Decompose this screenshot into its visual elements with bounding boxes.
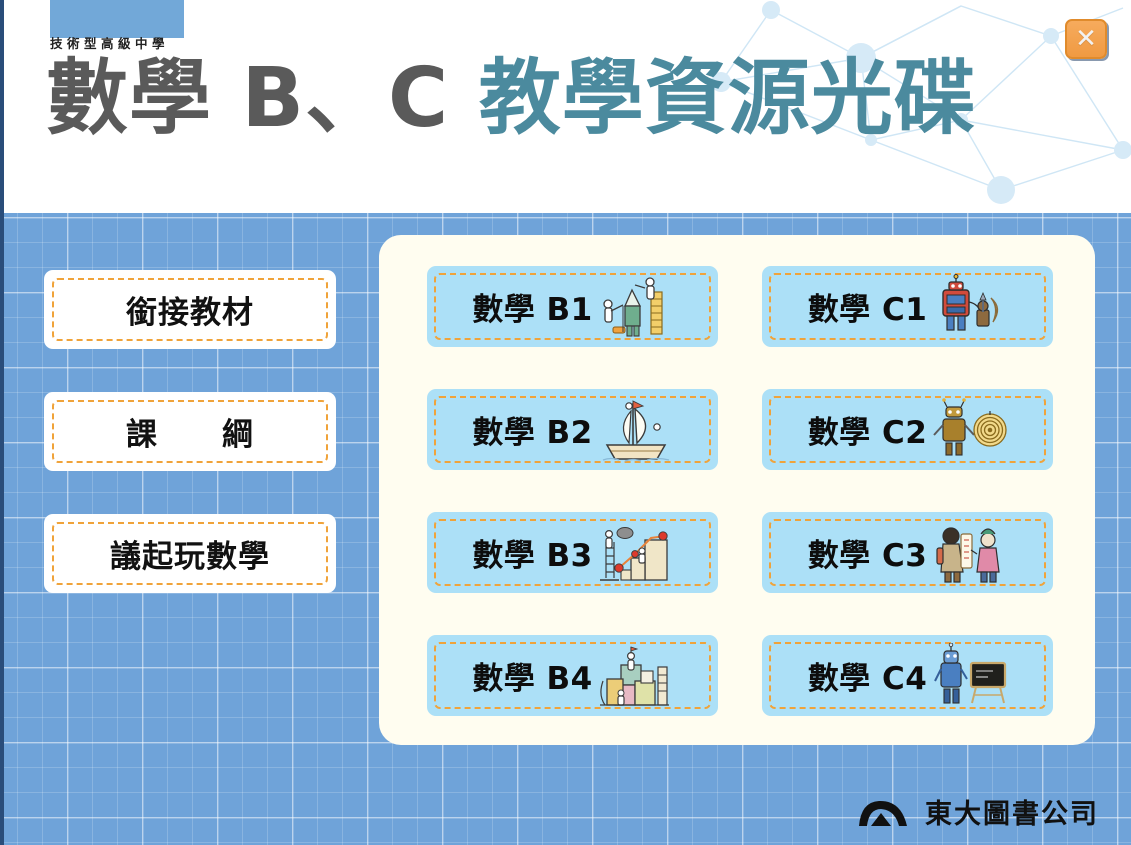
sidebar-item-curriculum-guidelines[interactable]: 課 綱 (44, 392, 336, 471)
page-title-primary: 數學 B、C (46, 51, 479, 146)
course-button-math-c1[interactable]: 數學 C1 (762, 266, 1053, 347)
course-button-label: 數學 C1 (808, 284, 928, 329)
page-title: 數學 B、C 教學資源光碟 (46, 58, 977, 140)
course-button-label: 數學 C2 (808, 407, 928, 452)
robot-target-illustration-icon (933, 397, 1007, 463)
two-characters-scroll-illustration-icon (933, 520, 1007, 586)
buildings-stack-illustration-icon (599, 643, 673, 709)
robot-archer-illustration-icon (933, 274, 1007, 340)
course-button-math-b4[interactable]: 數學 B4 (427, 635, 718, 716)
course-button-label: 數學 B2 (472, 407, 593, 452)
course-button-grid: 數學 B1 (427, 266, 1053, 718)
course-button-math-c4[interactable]: 數學 C4 (762, 635, 1053, 716)
app-root: 技術型高級中學 數學 B、C 教學資源光碟 ✕ 銜接教材 課 綱 議起玩數學 數… (0, 0, 1131, 845)
course-button-label: 數學 C3 (808, 530, 928, 575)
course-button-math-c3[interactable]: 數學 C3 (762, 512, 1053, 593)
sailing-ship-illustration-icon (599, 397, 673, 463)
close-button[interactable]: ✕ (1065, 19, 1107, 59)
course-button-label: 數學 C4 (808, 653, 928, 698)
course-button-label: 數學 B4 (472, 653, 593, 698)
school-badge-label: 技術型高級中學 (50, 33, 196, 52)
course-button-math-c2[interactable]: 數學 C2 (762, 389, 1053, 470)
sidebar-item-label: 課 綱 (126, 409, 254, 454)
course-button-label: 數學 B1 (472, 284, 593, 329)
header: 技術型高級中學 數學 B、C 教學資源光碟 (0, 0, 1131, 213)
sidebar-item-bridging-materials[interactable]: 銜接教材 (44, 270, 336, 349)
course-button-math-b3[interactable]: 數學 B3 (427, 512, 718, 593)
course-button-math-b1[interactable]: 數學 B1 (427, 266, 718, 347)
sidebar-item-play-math[interactable]: 議起玩數學 (44, 514, 336, 593)
course-button-label: 數學 B3 (472, 530, 593, 575)
robot-blackboard-illustration-icon (933, 643, 1007, 709)
construction-crane-illustration-icon (599, 520, 673, 586)
sidebar-item-label: 議起玩數學 (110, 531, 270, 576)
surveying-illustration-icon (599, 274, 673, 340)
close-icon: ✕ (1067, 21, 1105, 57)
course-panel: 數學 B1 (379, 235, 1095, 745)
sidebar: 銜接教材 課 綱 議起玩數學 (44, 270, 336, 636)
arch-mountain-logo-icon (857, 796, 915, 828)
page-title-secondary: 教學資源光碟 (479, 51, 977, 146)
brand-name: 東大圖書公司 (925, 792, 1099, 831)
sidebar-item-label: 銜接教材 (126, 287, 254, 332)
left-border-strip (0, 0, 4, 845)
course-button-math-b2[interactable]: 數學 B2 (427, 389, 718, 470)
brand-logo: 東大圖書公司 (857, 792, 1099, 831)
